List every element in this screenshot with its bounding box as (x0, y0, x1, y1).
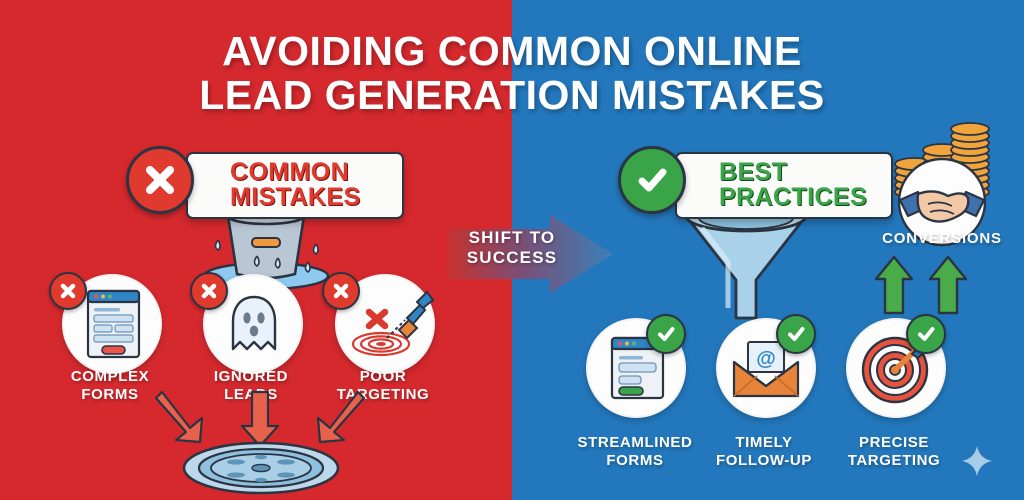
timely-followup-line-2: FOLLOW-UP (704, 452, 824, 470)
common-mistakes-line-1: COMMON (230, 160, 361, 185)
streamlined-forms-line-1: STREAMLINED (570, 434, 700, 452)
streamlined-forms-line-2: FORMS (570, 452, 700, 470)
title-line-2: LEAD GENERATION MISTAKES (0, 74, 1024, 118)
svg-text:@: @ (756, 348, 776, 370)
two-up-arrows (872, 255, 982, 317)
common-mistakes-line-2: MISTAKES (230, 185, 361, 210)
label-timely-followup: TIMELY FOLLOW-UP (704, 434, 824, 469)
ghost-icon (229, 294, 279, 356)
sparkle-icon (962, 446, 992, 476)
shift-to-success-label: SHIFT TO SUCCESS (447, 228, 577, 269)
page-title: AVOIDING COMMON ONLINE LEAD GENERATION M… (0, 30, 1024, 118)
check-circle-icon (618, 146, 686, 214)
precise-targeting-line-2: TARGETING (834, 452, 954, 470)
label-streamlined-forms: STREAMLINED FORMS (570, 434, 700, 469)
shift-line-2: SUCCESS (447, 248, 577, 268)
check-badge-icon (646, 314, 686, 354)
title-line-1: AVOIDING COMMON ONLINE (222, 28, 802, 74)
common-mistakes-plate: COMMON MISTAKES (186, 152, 404, 219)
poor-targeting-line-1: POOR (323, 368, 443, 386)
x-circle-icon (126, 146, 194, 214)
shift-line-1: SHIFT TO (447, 228, 577, 248)
precise-targeting-line-1: PRECISE (834, 434, 954, 452)
x-badge-icon (322, 272, 360, 310)
infographic-canvas: AVOIDING COMMON ONLINE LEAD GENERATION M… (0, 0, 1024, 500)
ignored-leads-line-1: IGNORED (191, 368, 311, 386)
check-badge-icon (906, 314, 946, 354)
complex-forms-line-1: COMPLEX (50, 368, 170, 386)
label-precise-targeting: PRECISE TARGETING (834, 434, 954, 469)
best-practices-line-2: PRACTICES (719, 185, 867, 210)
complex-form-window-icon (86, 289, 141, 359)
check-badge-icon (776, 314, 816, 354)
x-badge-icon (49, 272, 87, 310)
x-badge-icon (190, 272, 228, 310)
drain-icon (182, 442, 340, 494)
best-practices-plate: BEST PRACTICES (675, 152, 893, 219)
label-conversions: CONVERSIONS (862, 230, 1022, 247)
best-practices-line-1: BEST (719, 160, 867, 185)
timely-followup-line-1: TIMELY (704, 434, 824, 452)
